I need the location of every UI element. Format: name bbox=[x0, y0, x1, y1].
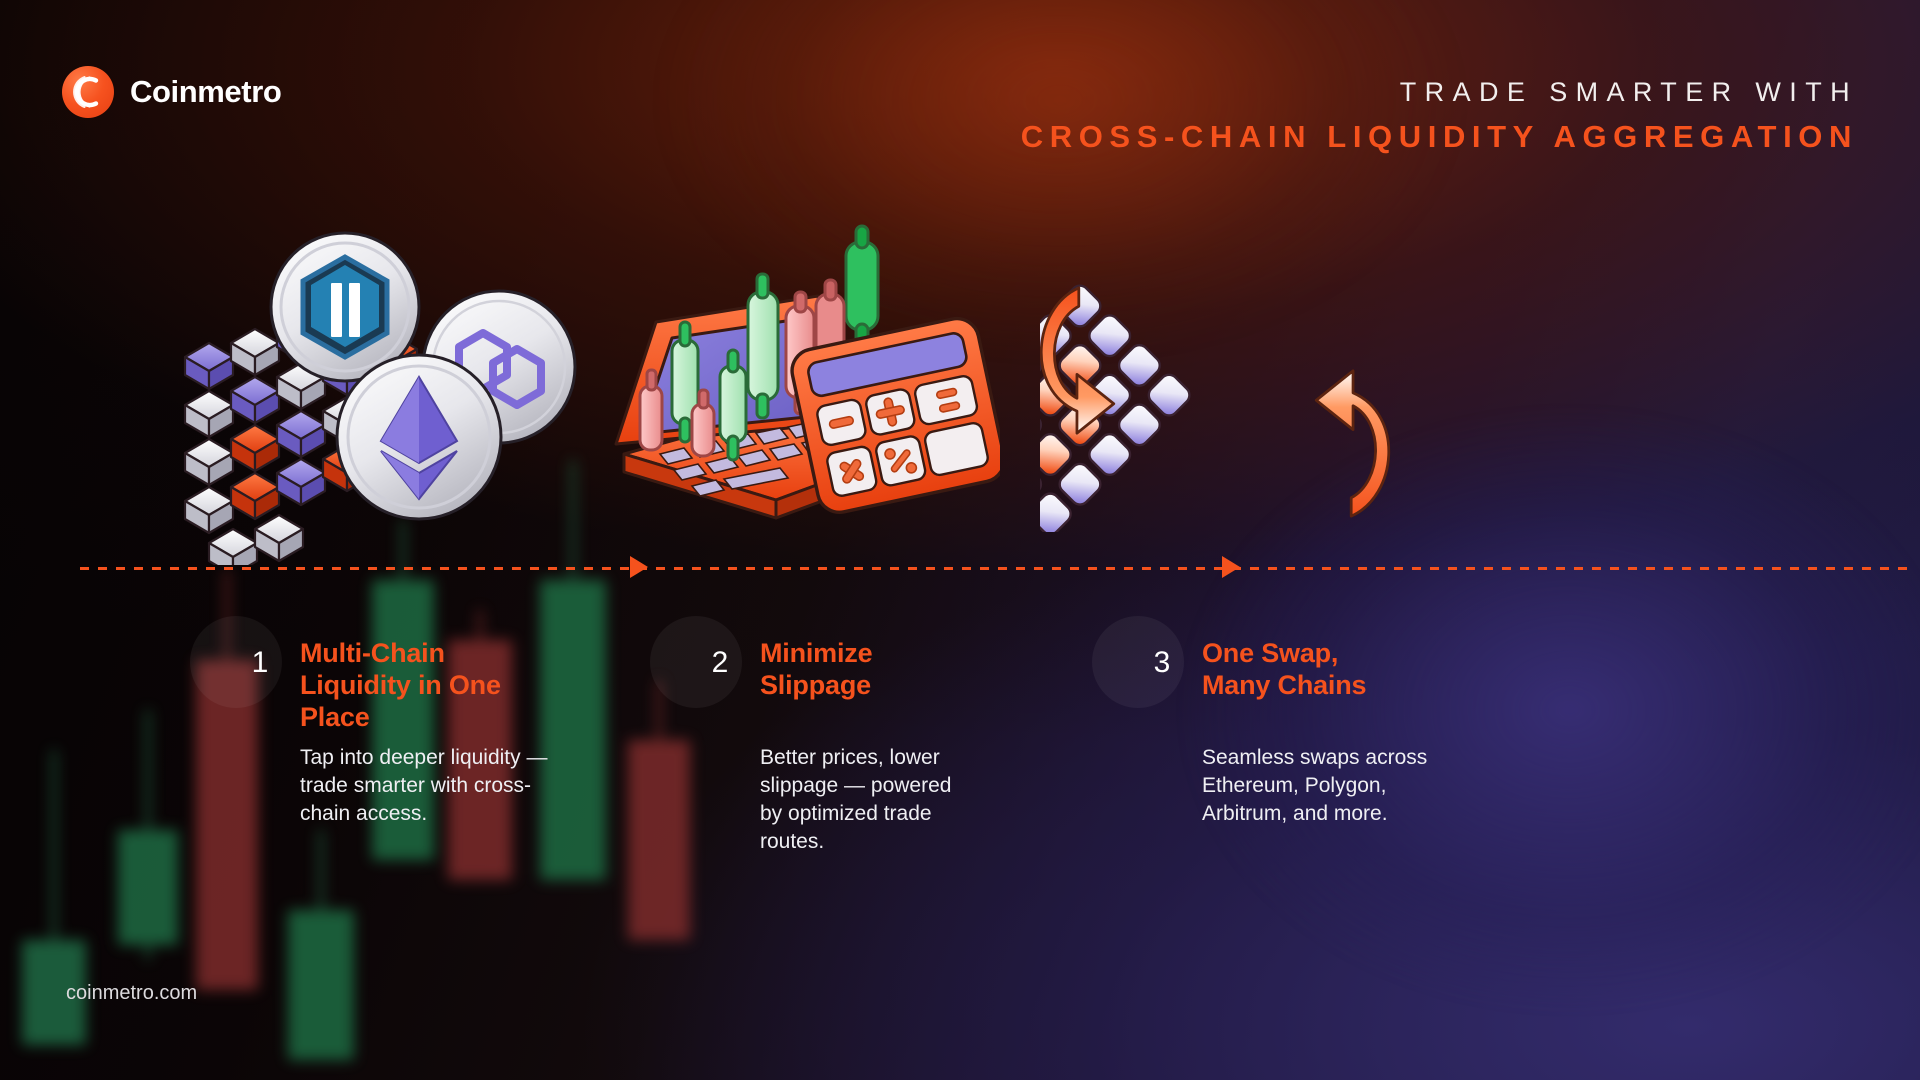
step-description: Tap into deeper liquidity — trade smarte… bbox=[300, 744, 562, 828]
step-card-1: 1 Multi-Chain Liquidity in One Place Tap… bbox=[232, 640, 562, 828]
coins-and-blocks-illustration bbox=[175, 225, 635, 565]
step-number: 2 bbox=[700, 646, 740, 680]
step-number: 3 bbox=[1142, 646, 1182, 680]
headline: TRADE SMARTER WITH CROSS-CHAIN LIQUIDITY… bbox=[1021, 76, 1858, 158]
candle-up-3 bbox=[748, 274, 778, 418]
brand-logo[interactable]: Coinmetro bbox=[62, 66, 281, 118]
flow-arrow-2-icon bbox=[1222, 556, 1240, 578]
step-number: 1 bbox=[240, 646, 280, 680]
laptop-chart-calculator-illustration bbox=[600, 218, 1000, 558]
candle-up-4 bbox=[846, 226, 878, 350]
brand-name: Coinmetro bbox=[130, 74, 281, 110]
website-url[interactable]: coinmetro.com bbox=[66, 982, 197, 1005]
step-title: One Swap, Many Chains bbox=[1202, 638, 1366, 702]
infographic-canvas: Coinmetro TRADE SMARTER WITH CROSS-CHAIN… bbox=[0, 0, 1920, 1080]
step-description: Seamless swaps across Ethereum, Polygon,… bbox=[1202, 744, 1434, 828]
step-card-3: 3 One Swap, Many Chains Seamless swaps a… bbox=[1134, 640, 1434, 828]
step-card-2: 2 Minimize Slippage Better prices, lower… bbox=[692, 640, 992, 856]
flow-connector-line bbox=[80, 566, 1910, 570]
step-description: Better prices, lower slippage — powered … bbox=[760, 744, 992, 856]
swap-arrow-right-icon bbox=[1316, 371, 1389, 516]
headline-line-2: CROSS-CHAIN LIQUIDITY AGGREGATION bbox=[1021, 117, 1858, 157]
block-grid-swap-arrows-illustration bbox=[1040, 272, 1410, 532]
step-title: Multi-Chain Liquidity in One Place bbox=[300, 638, 562, 734]
coinmetro-logo-icon bbox=[62, 66, 114, 118]
headline-line-1: TRADE SMARTER WITH bbox=[1021, 76, 1858, 108]
step-title: Minimize Slippage bbox=[760, 638, 872, 702]
ethereum-coin-icon bbox=[337, 355, 501, 519]
